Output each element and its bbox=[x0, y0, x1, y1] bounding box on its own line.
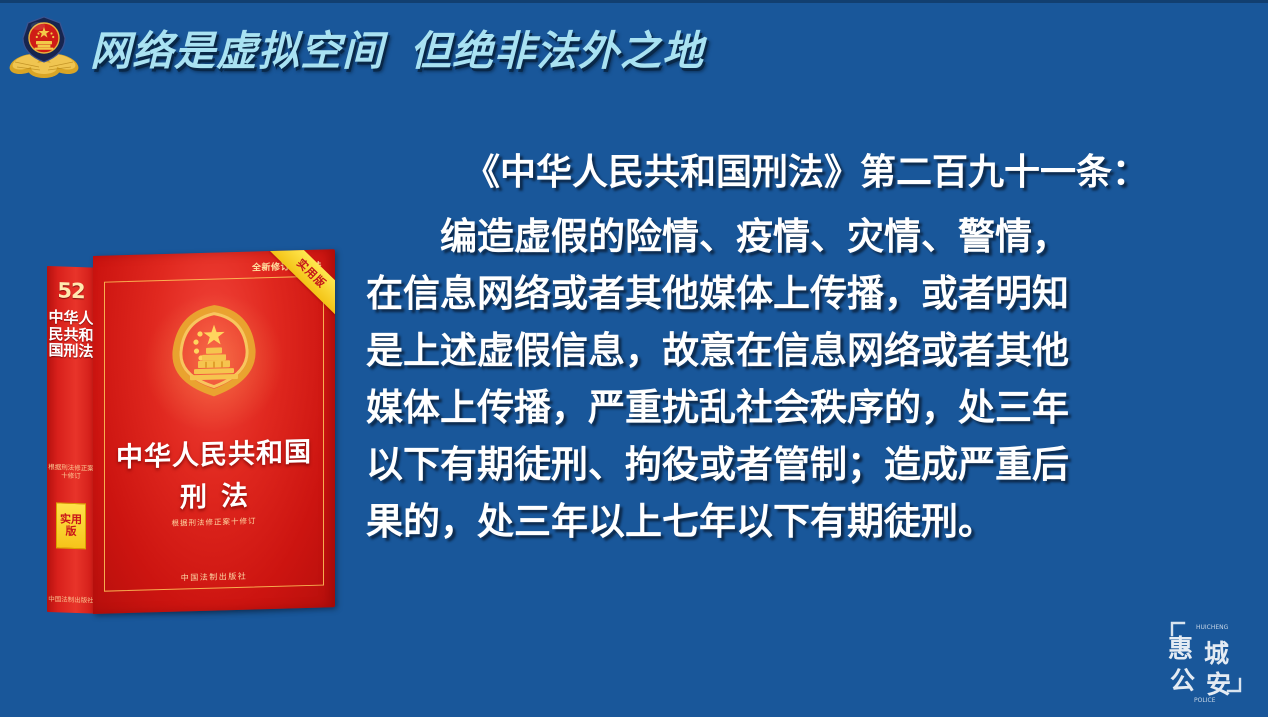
book-spine: 52 中华人民共和国刑法 根据刑法修正案十修订 实用版 中国法制出版社 bbox=[47, 266, 95, 614]
book-spine-title: 中华人民共和国刑法 bbox=[47, 310, 95, 361]
criminal-law-book-image: 52 中华人民共和国刑法 根据刑法修正案十修订 实用版 中国法制出版社 全新修订… bbox=[45, 252, 345, 624]
national-emblem-icon bbox=[162, 299, 266, 400]
header-slogan-part2: 但绝非法外之地 bbox=[410, 27, 704, 75]
law-title: 《中华人民共和国刑法》第二百九十一条： bbox=[366, 146, 1246, 198]
page-header: 网络是虚拟空间但绝非法外之地 bbox=[0, 0, 1268, 100]
law-line-5: 以下有期徒刑、拘役或者管制；造成严重后 bbox=[366, 436, 1246, 493]
book-cover-title-line2: 刑法 bbox=[93, 471, 335, 517]
header-slogan-part1: 网络是虚拟空间 bbox=[90, 27, 384, 75]
book-spine-badge: 实用版 bbox=[56, 502, 86, 549]
book-cover-title-line1: 中华人民共和国 bbox=[93, 429, 335, 475]
law-line-2: 在信息网络或者其他媒体上传播，或者明知 bbox=[366, 265, 1246, 322]
book: 52 中华人民共和国刑法 根据刑法修正案十修订 实用版 中国法制出版社 全新修订… bbox=[45, 252, 335, 614]
huicheng-police-watermark-icon: 惠 城 公 安 HUICHENG POLICE bbox=[1158, 609, 1254, 705]
svg-text:HUICHENG: HUICHENG bbox=[1196, 624, 1229, 631]
book-spine-publisher: 中国法制出版社 bbox=[47, 596, 95, 606]
watermark-char-4: 安 bbox=[1206, 670, 1231, 699]
watermark-char-3: 公 bbox=[1170, 666, 1195, 695]
law-line-1: 编造虚假的险情、疫情、灾情、警情， bbox=[366, 208, 1246, 265]
law-line-3: 是上述虚假信息，故意在信息网络或者其他 bbox=[366, 322, 1246, 379]
law-body: 编造虚假的险情、疫情、灾情、警情， 在信息网络或者其他媒体上传播，或者明知 是上… bbox=[366, 208, 1246, 550]
law-text-block: 《中华人民共和国刑法》第二百九十一条： 编造虚假的险情、疫情、灾情、警情， 在信… bbox=[366, 146, 1246, 550]
watermark-char-2: 城 bbox=[1204, 639, 1229, 668]
book-spine-badge-label: 实用版 bbox=[57, 513, 85, 538]
book-cover: 全新修订版·刑法 实用版 bbox=[93, 249, 335, 614]
law-line-6: 果的，处三年以上七年以下有期徒刑。 bbox=[366, 493, 1246, 550]
book-spine-subtitle: 根据刑法修正案十修订 bbox=[47, 464, 95, 481]
book-spine-number: 52 bbox=[47, 278, 95, 304]
police-badge-icon bbox=[8, 12, 80, 86]
header-slogan: 网络是虚拟空间但绝非法外之地 bbox=[90, 17, 704, 77]
svg-text:POLICE: POLICE bbox=[1194, 697, 1216, 704]
law-line-4: 媒体上传播，严重扰乱社会秩序的，处三年 bbox=[366, 379, 1246, 436]
watermark-char-1: 惠 bbox=[1168, 634, 1193, 663]
